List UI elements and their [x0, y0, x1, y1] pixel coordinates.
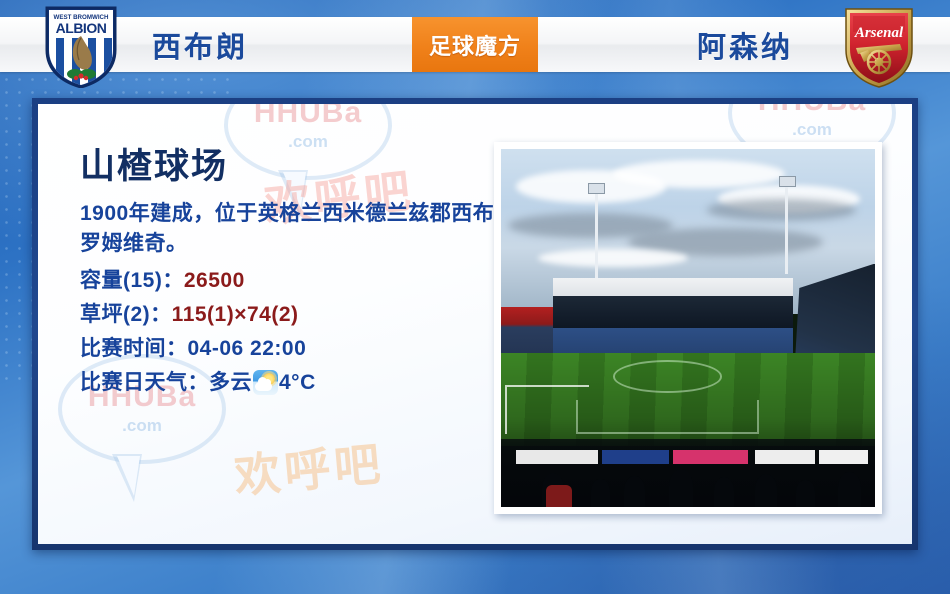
match-weather-label: 比赛日天气：	[80, 371, 209, 394]
svg-text:ALBION: ALBION	[56, 20, 107, 36]
match-time-row: 比赛时间：04-06 22:00	[80, 332, 510, 366]
match-weather-temp: 4°C	[279, 371, 316, 394]
stadium-info-block: 山楂球场 1900年建成，位于英格兰西米德兰兹郡西布罗姆维奇。 容量(15)：2…	[80, 138, 510, 400]
away-team-name: 阿森纳	[697, 24, 793, 66]
photo-advert-board	[673, 450, 748, 464]
watermark-bubble-sub: .com	[58, 416, 226, 436]
pitch-size-label: 草坪(2)：	[80, 303, 172, 326]
site-logo-text: 足球魔方	[429, 29, 521, 61]
photo-advert-board	[819, 450, 868, 464]
match-time-label: 比赛时间：	[80, 337, 188, 360]
watermark-bubble-text: HHUBa	[728, 104, 896, 118]
svg-text:Arsenal: Arsenal	[854, 25, 904, 41]
site-logo[interactable]: 足球魔方	[412, 17, 538, 72]
away-team-crest-icon: Arsenal	[842, 6, 916, 88]
photo-goal	[505, 385, 589, 434]
stadium-photo	[501, 149, 875, 507]
capacity-row: 容量(15)：26500	[80, 264, 510, 298]
floodlight-left	[595, 188, 598, 281]
watermark-bubble-text: HHUBa	[224, 104, 392, 130]
home-team-crest-icon: WEST BROMWICH ALBION	[44, 6, 118, 88]
floodlight-right	[785, 181, 788, 274]
content-frame: HHUBa .com HHUBa .com HHUBa .com 欢呼吧 欢呼吧…	[32, 98, 918, 550]
match-header: WEST BROMWICH ALBION 西布朗 足球魔方 阿森纳	[0, 0, 950, 92]
photo-advert-board	[516, 450, 598, 464]
stadium-title: 山楂球场	[80, 138, 510, 189]
match-weather-condition: 多云	[209, 371, 252, 394]
pitch-size-row: 草坪(2)：115(1)×74(2)	[80, 298, 510, 332]
photo-advert-board	[602, 450, 669, 464]
photo-advert-board	[755, 450, 815, 464]
stadium-description: 1900年建成，位于英格兰西米德兰兹郡西布罗姆维奇。	[80, 199, 510, 260]
capacity-label: 容量(15)：	[80, 269, 184, 292]
match-weather-row: 比赛日天气：多云4°C	[80, 366, 510, 400]
watermark-bubble-sub: .com	[728, 120, 896, 140]
stadium-info-card: WEST BROMWICH ALBION 西布朗 足球魔方 阿森纳	[0, 0, 950, 594]
pitch-size-value: 115(1)×74(2)	[172, 303, 299, 326]
match-time-value: 04-06 22:00	[188, 337, 307, 360]
home-team-name: 西布朗	[152, 24, 248, 66]
capacity-value: 26500	[184, 269, 245, 292]
partly-cloudy-icon	[253, 370, 278, 395]
watermark-brand-bottom: 欢呼吧	[231, 428, 386, 507]
stadium-photo-frame	[494, 142, 882, 514]
content-panel: HHUBa .com HHUBa .com HHUBa .com 欢呼吧 欢呼吧…	[38, 104, 912, 544]
